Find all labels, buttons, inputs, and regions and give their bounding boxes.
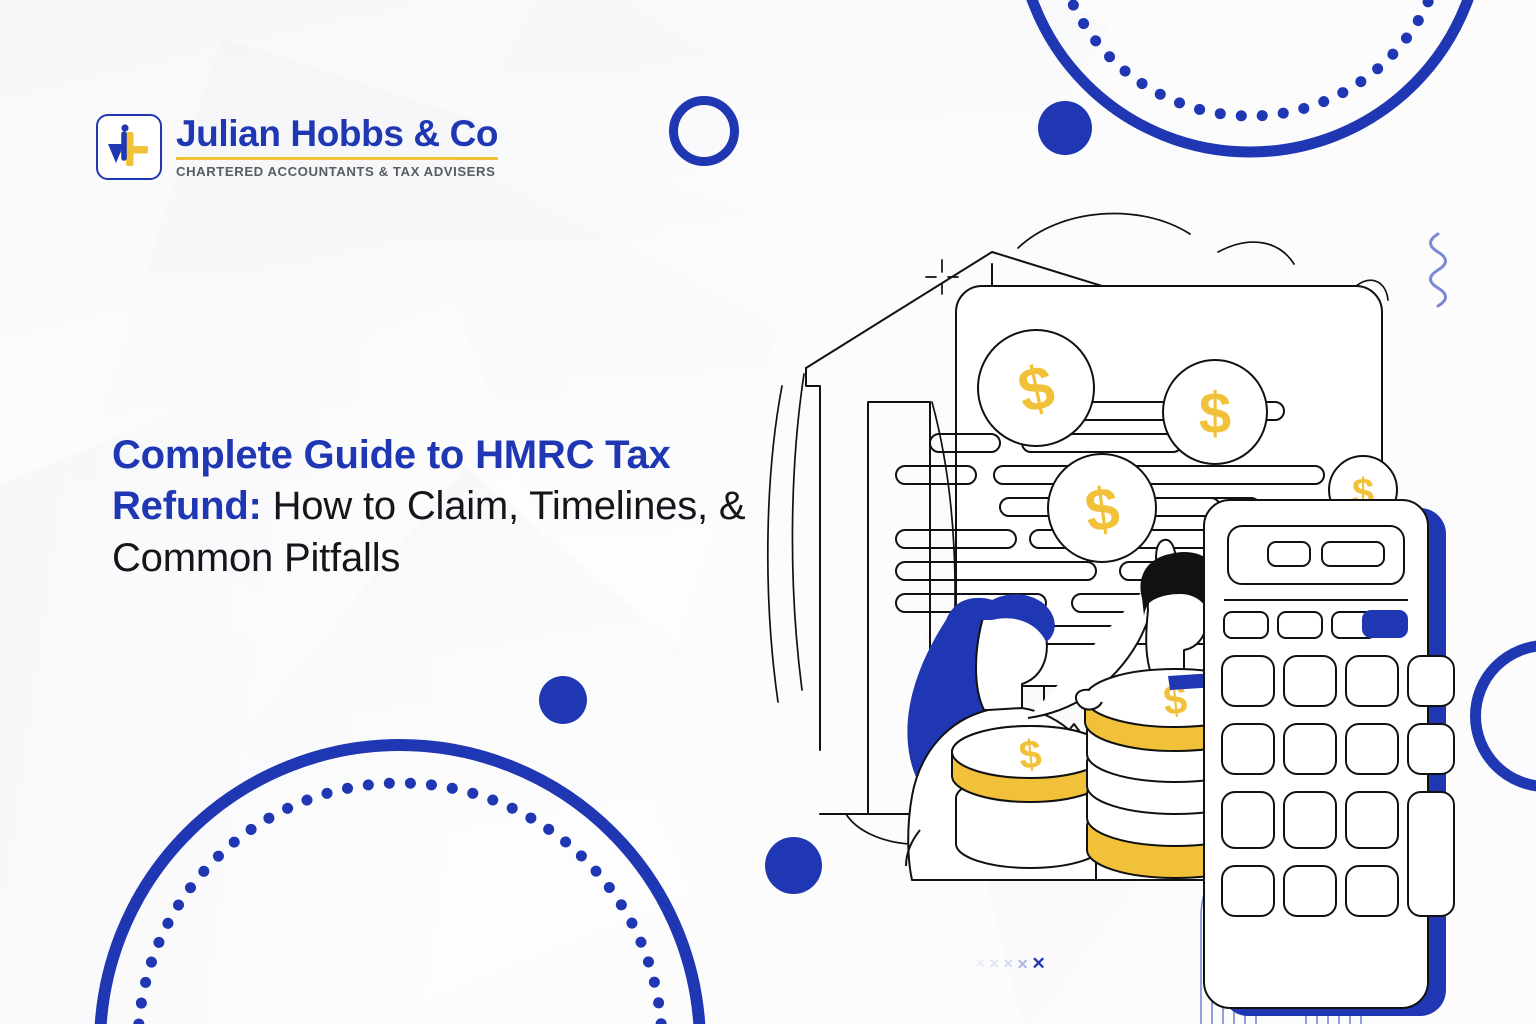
- x-mark-icon: ✕: [975, 957, 986, 970]
- x-mark-icon: ✕: [1017, 957, 1029, 971]
- tax-refund-illustration: $ $ $ $: [760, 190, 1500, 870]
- x-mark-row-icon: ✕ ✕ ✕ ✕ ✕: [975, 955, 1046, 972]
- brand-rule: [176, 157, 498, 160]
- page-title: Complete Guide to HMRC Tax Refund: How t…: [112, 430, 812, 585]
- brand-tagline: CHARTERED ACCOUNTANTS & TAX ADVISERS: [176, 164, 498, 179]
- x-mark-icon: ✕: [989, 957, 1000, 970]
- svg-text:$: $: [1017, 732, 1044, 778]
- x-mark-icon: ✕: [1031, 955, 1045, 972]
- x-mark-icon: ✕: [1003, 957, 1014, 970]
- ring-outline-small-icon: [669, 96, 739, 166]
- brand-name: Julian Hobbs & Co: [176, 115, 498, 153]
- solid-dot-icon: [1038, 101, 1092, 155]
- solid-dot-icon: [539, 676, 587, 724]
- brand-lockup: Julian Hobbs & Co CHARTERED ACCOUNTANTS …: [176, 115, 498, 180]
- brand-logo[interactable]: Julian Hobbs & Co CHARTERED ACCOUNTANTS …: [96, 114, 498, 180]
- dotted-ring-bottom-left-icon: [80, 725, 720, 1024]
- jh-monogram-icon: [96, 114, 162, 180]
- svg-text:$: $: [1199, 381, 1231, 446]
- banner-canvas: ✕ ✕ ✕ ✕ ✕: [0, 0, 1536, 1024]
